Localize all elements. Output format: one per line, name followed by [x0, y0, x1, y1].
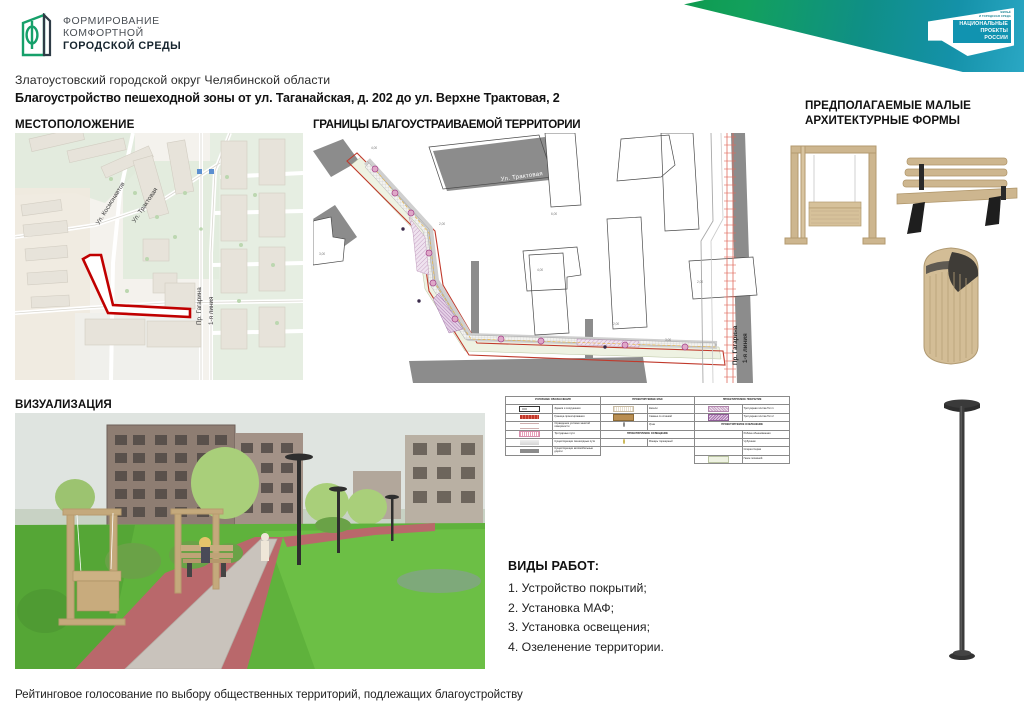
bin-swatch [600, 422, 647, 430]
location-map-canvas: Ул. Космонавтов Ул. Трактовая Пр. Гагари… [15, 133, 303, 380]
red-line-swatch [506, 413, 553, 421]
lamp-image [930, 390, 994, 668]
logo-line-3: ГОРОДСКОЙ СРЕДЫ [63, 40, 181, 53]
work-item: 3. Установка освещения; [508, 618, 768, 638]
logo-line-1: ФОРМИРОВАНИЕ [63, 15, 181, 27]
footer-note: Рейтинговое голосование по выбору общест… [15, 688, 523, 701]
swing-swatch [600, 405, 647, 413]
boundary-plan[interactable]: Ул. Трактовая Пр. Гагарина 1-я линия 4,0… [313, 133, 768, 383]
section-heading-maf: ПРЕДПОЛАГАЕМЫЕ МАЛЫЕ АРХИТЕКТУРНЫЕ ФОРМЫ [805, 99, 1020, 128]
legend-label: Ограждение условно занятой поверхности [553, 422, 600, 430]
street-label-1liniya: 1-я линия [208, 297, 215, 325]
visualization-canvas [15, 413, 485, 669]
region-subtitle: Златоустовский городской округ Челябинск… [15, 73, 330, 87]
legend-label: Скамья со спинкой [647, 413, 694, 421]
plan-street-1liniya: 1-я линия [742, 333, 749, 363]
section-heading-boundaries: ГРАНИЦЫ БЛАГОУСТРАИВАЕМОЙ ТЕРРИТОРИИ [313, 118, 580, 131]
legend-label: Граница проектирования [553, 413, 600, 421]
visualization-image[interactable] [15, 413, 485, 669]
transit-marker [209, 169, 214, 174]
legend-label: Спирея Серая [742, 447, 789, 455]
np-title-line2: ПРОЕКТЫ [959, 28, 1008, 35]
tile2-swatch [695, 413, 742, 421]
plan-dimension: 2,00 [613, 322, 619, 326]
legend-label: Газон посевной [742, 455, 789, 463]
plan-dimension: 4,00 [371, 146, 377, 150]
np-title-line3: РОССИИ [959, 35, 1008, 42]
legend-subheader-2: ПРОЕКТИРУЕМОЕ ОСВЕЩЕНИЕ [600, 430, 695, 438]
legend-label: Существующие пешеходные пути [553, 438, 600, 446]
transit-marker [197, 169, 202, 174]
legend-label: Чубушник [742, 438, 789, 446]
legend-label: Существующие автомобильные дороги [553, 447, 600, 455]
legend-label: Тротуарная плитка Тип 1 [742, 405, 789, 413]
swing-image [783, 140, 888, 250]
plan-dimension: 3,00 [665, 338, 671, 342]
legend-header-2: ПРОЕКТИРУЕМЫЕ МАФ [600, 397, 695, 405]
sidewalk-swatch [506, 430, 553, 438]
existing-path-swatch [506, 438, 553, 446]
plan-dimension: 4,00 [537, 268, 543, 272]
work-item: 4. Озеленение территории. [508, 638, 768, 658]
legend-label: Качели [647, 405, 694, 413]
legend-subheader-3: ПРОЕКТИРУЕМОЕ ОЗЕЛЕНЕНИЕ [695, 422, 790, 430]
existing-road-swatch [506, 447, 553, 455]
work-item: 2. Установка МАФ; [508, 599, 768, 619]
tree-swatch [695, 430, 742, 438]
bin-image [908, 240, 994, 368]
bench-image [893, 150, 1021, 238]
plan-street-gagarina: Пр. Гагарина [732, 325, 739, 365]
work-item: 1. Устройство покрытий; [508, 579, 768, 599]
logo-line-2: КОМФОРТНОЙ [63, 27, 181, 39]
location-map[interactable]: Ул. Космонавтов Ул. Трактовая Пр. Гагари… [15, 133, 303, 380]
legend-label: Тротуарные пути [553, 430, 600, 438]
legend-header-3: ПРОЕКТИРУЕМОЕ ПОКРЫТИЕ [695, 397, 790, 405]
legend-label: Тротуарная плитка Тип 2 [742, 413, 789, 421]
section-heading-location: МЕСТОПОЛОЖЕНИЕ [15, 118, 134, 131]
tile1-swatch [695, 405, 742, 413]
works-title: ВИДЫ РАБОТ: [508, 559, 768, 573]
sowing-swatch [695, 447, 742, 455]
plan-dimension: 3,00 [319, 252, 325, 256]
page-title: Благоустройство пешеходной зоны от ул. Т… [15, 91, 560, 105]
legend-label: Урна [647, 422, 694, 430]
street-label-gagarina: Пр. Гагарина [196, 287, 203, 325]
thin-line-swatch [506, 422, 553, 430]
legend-label: Фонарь торшерный [647, 438, 694, 446]
section-heading-visualization: ВИЗУАЛИЗАЦИЯ [15, 398, 112, 411]
legend-header-1: УСЛОВНЫЕ ОБОЗНАЧЕНИЯ [506, 397, 601, 405]
np-title-line1: НАЦИОНАЛЬНЫЕ [959, 21, 1008, 28]
works-list: ВИДЫ РАБОТ: 1. Устройство покрытий; 2. У… [508, 559, 768, 657]
house-window-icon [18, 13, 54, 57]
boundary-plan-canvas: Ул. Трактовая Пр. Гагарина 1-я линия 4,0… [313, 133, 768, 383]
bench-swatch [600, 413, 647, 421]
program-logo: ФОРМИРОВАНИЕ КОМФОРТНОЙ ГОРОДСКОЙ СРЕДЫ [18, 13, 181, 57]
legend-label: Рябина обыкновенная [742, 430, 789, 438]
legend-label: Здания и сооружения [553, 405, 600, 413]
np-kicker-line2: И ГОРОДСКАЯ СРЕДА [979, 15, 1011, 19]
plan-dimension: 6,00 [551, 212, 557, 216]
maf-heading-line2: АРХИТЕКТУРНЫЕ ФОРМЫ [805, 114, 1020, 129]
plan-legend: УСЛОВНЫЕ ОБОЗНАЧЕНИЯ ПРОЕКТИРУЕМЫЕ МАФ П… [505, 396, 790, 464]
lawn-swatch [695, 455, 742, 463]
shrub-swatch [695, 438, 742, 446]
lamp-swatch [600, 438, 647, 446]
maf-heading-line1: ПРЕДПОЛАГАЕМЫЕ МАЛЫЕ [805, 99, 1020, 114]
building-swatch [506, 405, 553, 413]
plan-dimension: 2,00 [697, 280, 703, 284]
plan-dimension: 2,00 [439, 222, 445, 226]
